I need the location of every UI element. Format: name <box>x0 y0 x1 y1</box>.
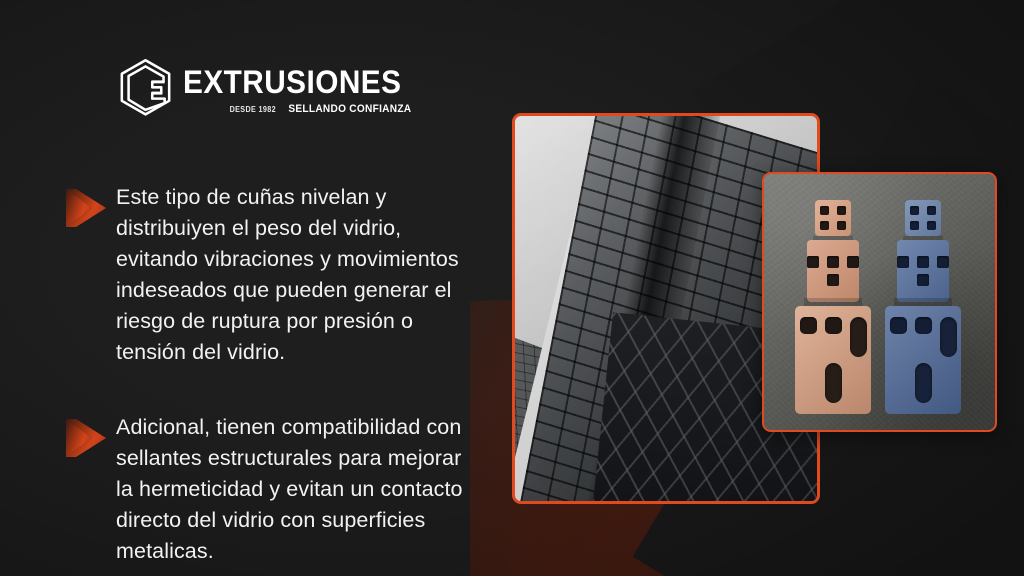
wedge-hole <box>927 221 936 230</box>
wedge-slot <box>915 363 932 403</box>
wedge-hole <box>910 206 919 215</box>
logo-wordmark: EXTRUSIONES <box>183 66 401 98</box>
wedge-block-small <box>815 200 851 236</box>
wedge-hole <box>917 256 929 268</box>
logo-tagline-since: DESDE 1982 <box>229 105 275 114</box>
extrusiones-hexagon-monogram-icon <box>117 58 174 120</box>
logo-tagline-slogan: SELLANDO CONFIANZA <box>288 103 411 115</box>
wedge-hole <box>825 317 842 334</box>
slide-root: EXTRUSIONES DESDE 1982 SELLANDO CONFIANZ… <box>0 0 1024 576</box>
wedge-stack-salmon <box>794 200 872 414</box>
logo-tagline: DESDE 1982 SELLANDO CONFIANZA <box>227 103 417 115</box>
wedge-block-medium <box>897 240 949 302</box>
chevron-right-icon <box>62 415 114 461</box>
wedge-block-large <box>885 306 961 414</box>
wedge-hole <box>807 256 819 268</box>
brand-logo: EXTRUSIONES DESDE 1982 SELLANDO CONFIANZ… <box>117 58 418 120</box>
wedge-hole <box>827 274 839 286</box>
bullet-list: Este tipo de cuñas nivelan y distribuiye… <box>62 182 482 566</box>
wedge-hole <box>890 317 907 334</box>
wedge-stack-blue <box>884 200 962 414</box>
wedge-hole <box>800 317 817 334</box>
bullet-item: Adicional, tienen compatibilidad con sel… <box>62 412 482 567</box>
wedge-slot <box>850 317 867 357</box>
wedge-block-medium <box>807 240 859 302</box>
wedge-hole <box>897 256 909 268</box>
wedges-product-photo <box>762 172 997 432</box>
bullet-item: Este tipo de cuñas nivelan y distribuiye… <box>62 182 482 368</box>
wedge-hole <box>820 221 829 230</box>
wedge-hole <box>915 317 932 334</box>
wedge-hole <box>847 256 859 268</box>
bullet-text: Adicional, tienen compatibilidad con sel… <box>116 412 482 567</box>
logo-text-block: EXTRUSIONES DESDE 1982 SELLANDO CONFIANZ… <box>183 66 418 115</box>
wedge-hole <box>837 206 846 215</box>
wedge-block-large <box>795 306 871 414</box>
wedge-hole <box>837 221 846 230</box>
wedge-slot <box>825 363 842 403</box>
wedge-hole <box>910 221 919 230</box>
bullet-text: Este tipo de cuñas nivelan y distribuiye… <box>116 182 482 368</box>
chevron-right-icon <box>62 185 114 231</box>
wedge-slot <box>940 317 957 357</box>
wedge-hole <box>927 206 936 215</box>
wedge-hole <box>937 256 949 268</box>
wedge-hole <box>820 206 829 215</box>
wedge-hole <box>827 256 839 268</box>
wedge-hole <box>917 274 929 286</box>
wedge-block-small <box>905 200 941 236</box>
